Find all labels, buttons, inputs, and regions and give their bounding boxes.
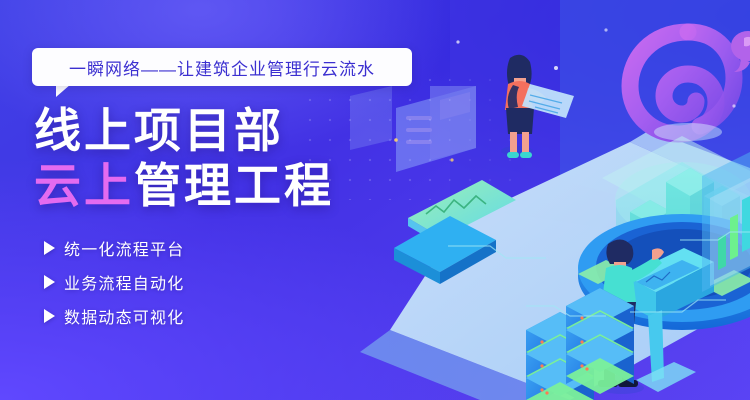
list-item: 数据动态可视化 [44, 304, 184, 328]
list-item: 业务流程自动化 [44, 270, 184, 294]
headline-accent-text: 云上 [34, 159, 134, 212]
list-item: 统一化流程平台 [44, 236, 184, 260]
feature-bullet-list: 统一化流程平台 业务流程自动化 数据动态可视化 [44, 236, 184, 338]
headline-block: 线上项目部 云上管理工程 [34, 104, 454, 213]
bullet-label: 业务流程自动化 [64, 270, 184, 294]
headline-rest-text: 管理工程 [134, 159, 334, 212]
triangle-right-icon [44, 241, 55, 255]
triangle-right-icon [44, 309, 55, 323]
subtitle-banner: 一瞬网络——让建筑企业管理行云流水 [32, 48, 412, 86]
bullet-label: 统一化流程平台 [64, 236, 184, 260]
promo-banner: 一瞬网络——让建筑企业管理行云流水 线上项目部 云上管理工程 统一化流程平台 业… [0, 0, 750, 400]
subtitle-text: 一瞬网络——让建筑企业管理行云流水 [69, 55, 375, 80]
headline-line-1: 线上项目部 [34, 104, 454, 159]
triangle-right-icon [44, 275, 55, 289]
bar-chart-panel [702, 152, 750, 292]
headline-line-2: 云上管理工程 [34, 159, 454, 214]
bullet-label: 数据动态可视化 [64, 304, 184, 328]
